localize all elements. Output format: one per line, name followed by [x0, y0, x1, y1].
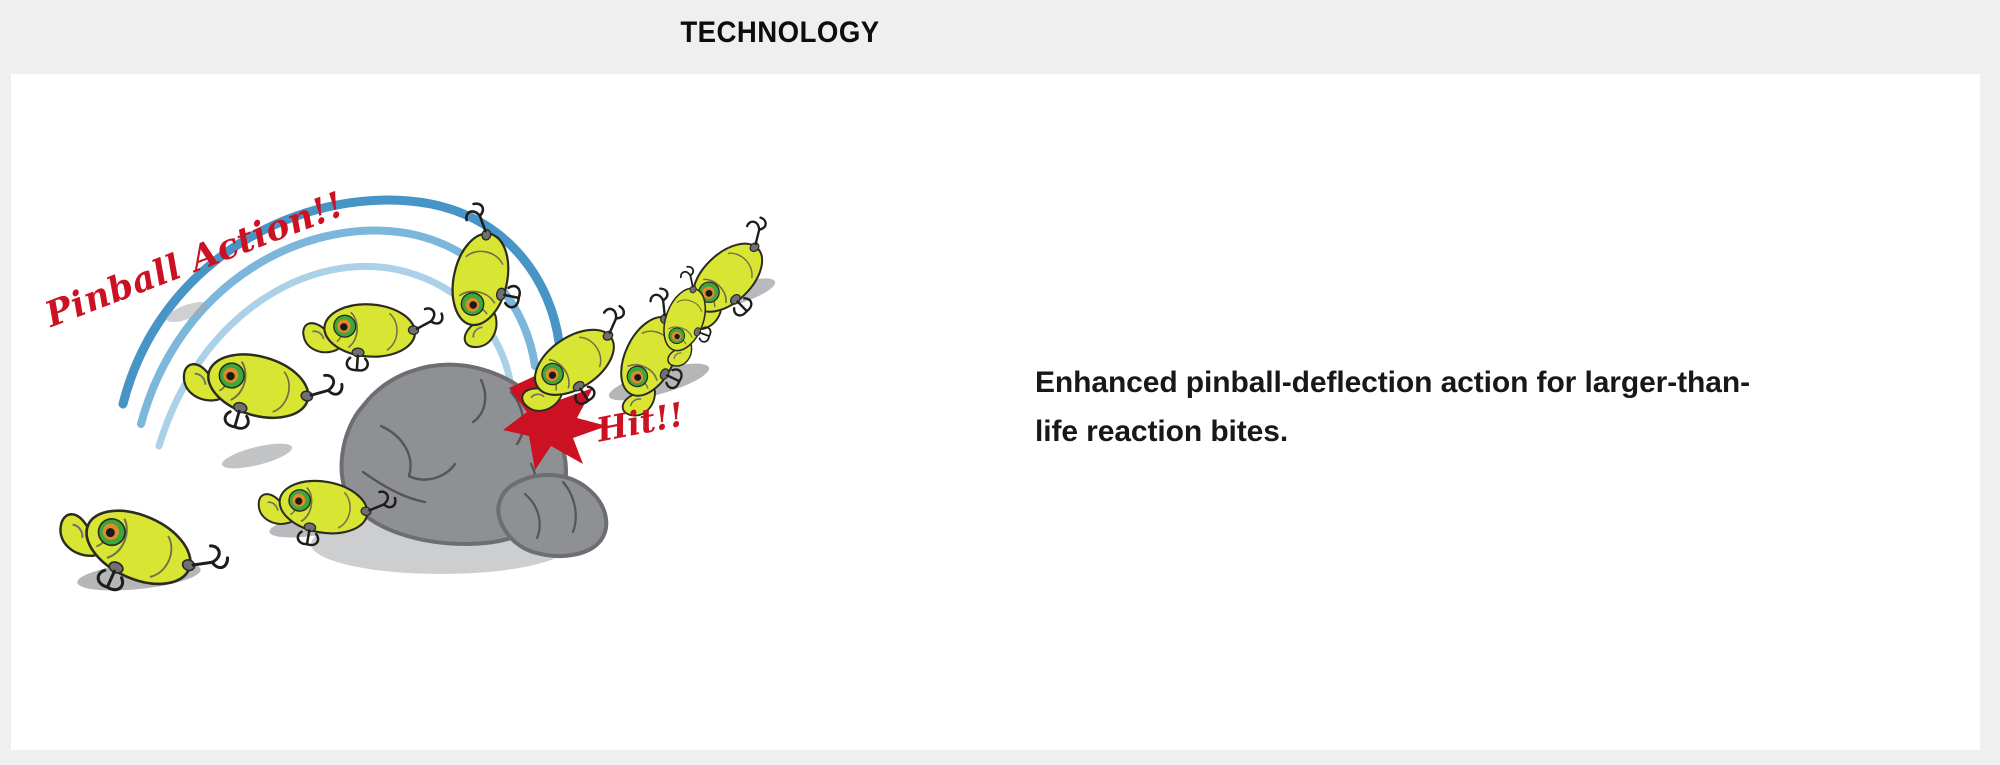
lure	[301, 300, 443, 376]
illustration-container: Pinball Action!! Hit!!	[11, 74, 811, 634]
technology-description: Enhanced pinball-deflection action for l…	[1035, 359, 1775, 456]
page-root: TECHNOLOGY	[0, 0, 2000, 765]
lure	[45, 486, 231, 628]
technology-panel: Pinball Action!! Hit!! Enhanced pinball-…	[11, 74, 1980, 750]
page-title: TECHNOLOGY	[62, 16, 1497, 50]
lure	[174, 337, 345, 452]
